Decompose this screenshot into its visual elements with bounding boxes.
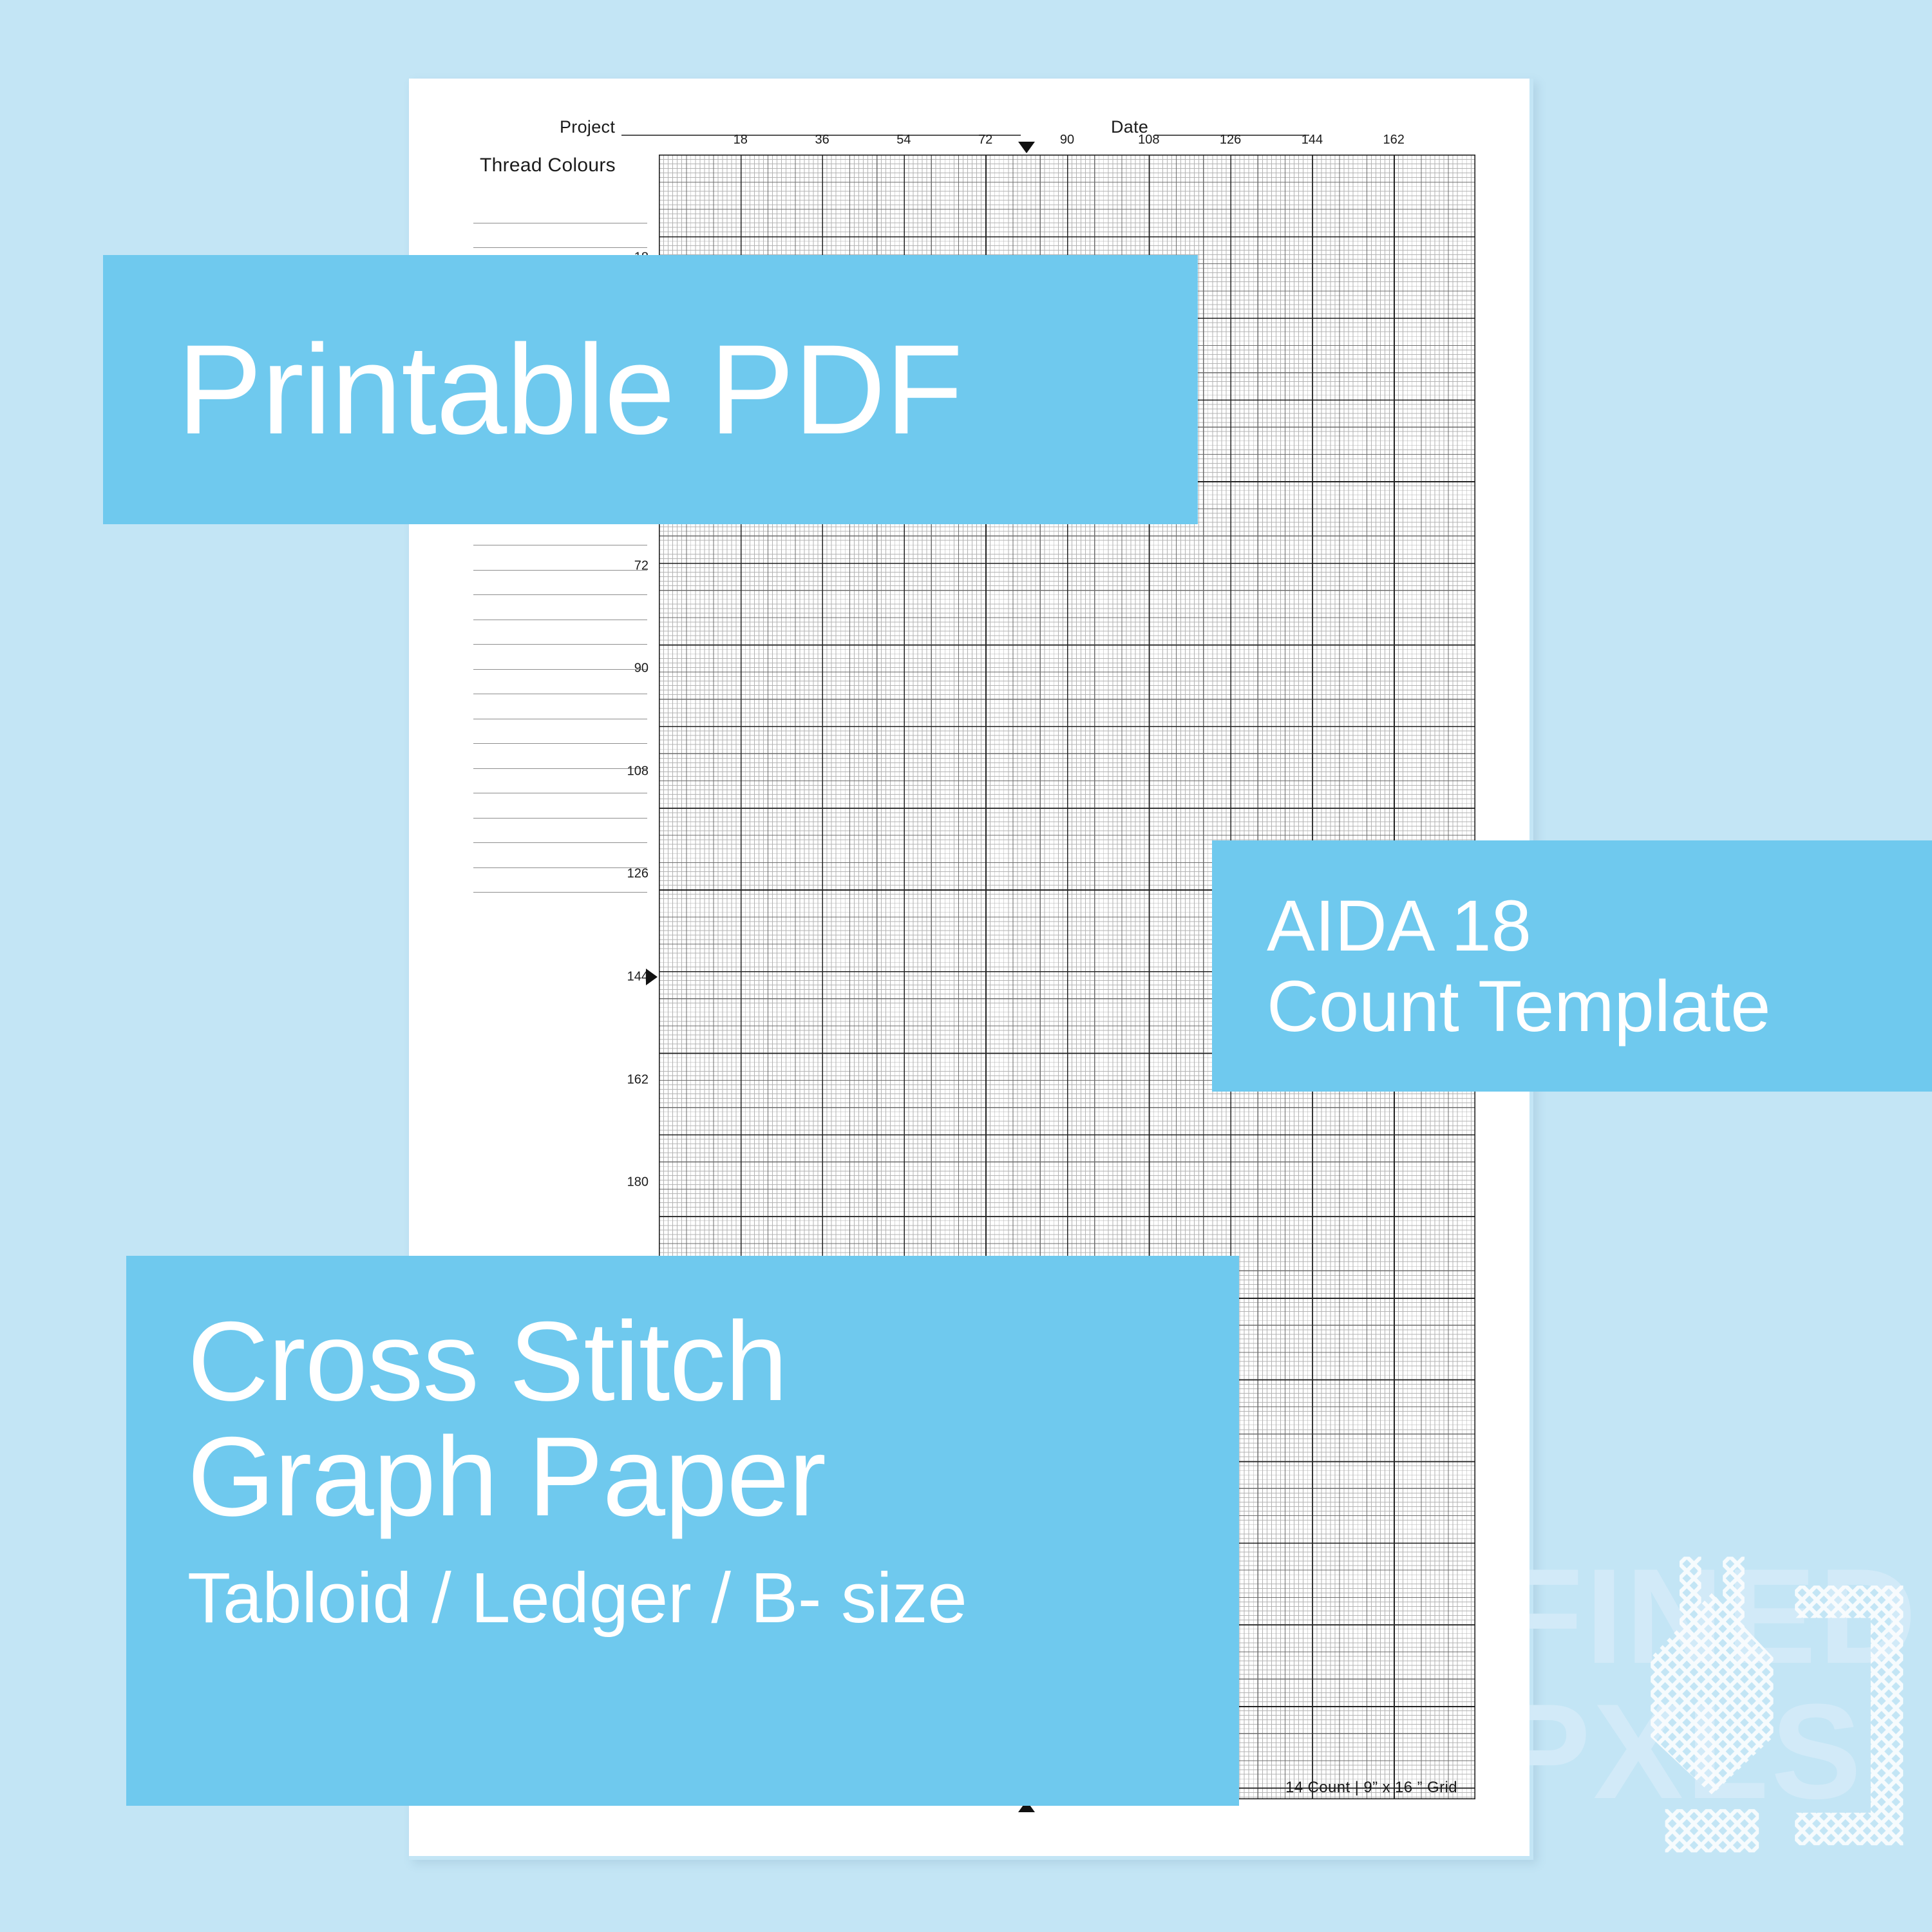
grid-column-tick: 144 xyxy=(1302,133,1323,147)
banner-main-title: Cross Stitch Graph Paper Tabloid / Ledge… xyxy=(126,1256,1239,1806)
thread-colour-line[interactable] xyxy=(473,793,647,819)
grid-column-tick: 90 xyxy=(1060,133,1074,147)
grid-row-tick: 108 xyxy=(627,764,649,779)
banner-pdf-title: Printable PDF xyxy=(177,326,1198,453)
pen-nib-icon xyxy=(1571,1513,1932,1874)
grid-column-tick: 108 xyxy=(1138,133,1159,147)
grid-column-tick: 162 xyxy=(1383,133,1405,147)
grid-row-tick: 144 xyxy=(627,970,649,985)
thread-colour-line[interactable] xyxy=(473,545,647,571)
banner-main-line-1: Cross Stitch xyxy=(187,1305,1239,1420)
thread-colour-line[interactable] xyxy=(473,571,647,596)
grid-spec-label: 14 Count | 9” x 16 ” Grid xyxy=(1285,1779,1457,1797)
banner-aida-line-1: AIDA 18 xyxy=(1267,885,1932,966)
grid-column-tick: 72 xyxy=(978,133,992,147)
grid-row-tick: 126 xyxy=(627,867,649,882)
grid-column-tick: 126 xyxy=(1220,133,1241,147)
grid-row-tick: 72 xyxy=(634,558,649,573)
thread-colour-line[interactable] xyxy=(473,670,647,695)
grid-column-tick: 36 xyxy=(815,133,829,147)
banner-aida-line-2: Count Template xyxy=(1267,966,1932,1046)
banner-main-subtitle: Tabloid / Ledger / B- size xyxy=(187,1559,1239,1637)
thread-colour-line[interactable] xyxy=(473,595,647,620)
grid-center-marker-left xyxy=(646,969,658,985)
grid-column-tick: 18 xyxy=(734,133,748,147)
thread-colours-heading: Thread Colours xyxy=(480,155,616,176)
thread-colour-line[interactable] xyxy=(473,694,647,719)
thread-colour-line[interactable] xyxy=(473,868,647,893)
grid-row-tick: 180 xyxy=(627,1175,649,1190)
banner-aida-count: AIDA 18 Count Template xyxy=(1212,840,1932,1092)
thread-colour-line[interactable] xyxy=(473,719,647,744)
grid-row-tick: 162 xyxy=(627,1072,649,1087)
banner-main-line-2: Graph Paper xyxy=(187,1420,1239,1535)
project-label: Project xyxy=(560,118,615,136)
thread-colour-line[interactable] xyxy=(473,521,647,546)
banner-printable-pdf: Printable PDF xyxy=(103,255,1198,524)
thread-colour-line[interactable] xyxy=(473,223,647,249)
thread-colour-line[interactable] xyxy=(473,645,647,670)
thread-colour-line[interactable] xyxy=(473,843,647,868)
grid-center-marker-top xyxy=(1018,142,1035,153)
thread-colour-line[interactable] xyxy=(473,620,647,645)
thread-colour-line[interactable] xyxy=(473,769,647,794)
thread-colour-line[interactable] xyxy=(473,819,647,844)
grid-row-tick: 90 xyxy=(634,661,649,676)
project-field[interactable]: Project xyxy=(560,118,1021,136)
thread-colour-line[interactable] xyxy=(473,744,647,769)
thread-colour-line[interactable] xyxy=(473,198,647,223)
grid-column-tick: 54 xyxy=(896,133,911,147)
